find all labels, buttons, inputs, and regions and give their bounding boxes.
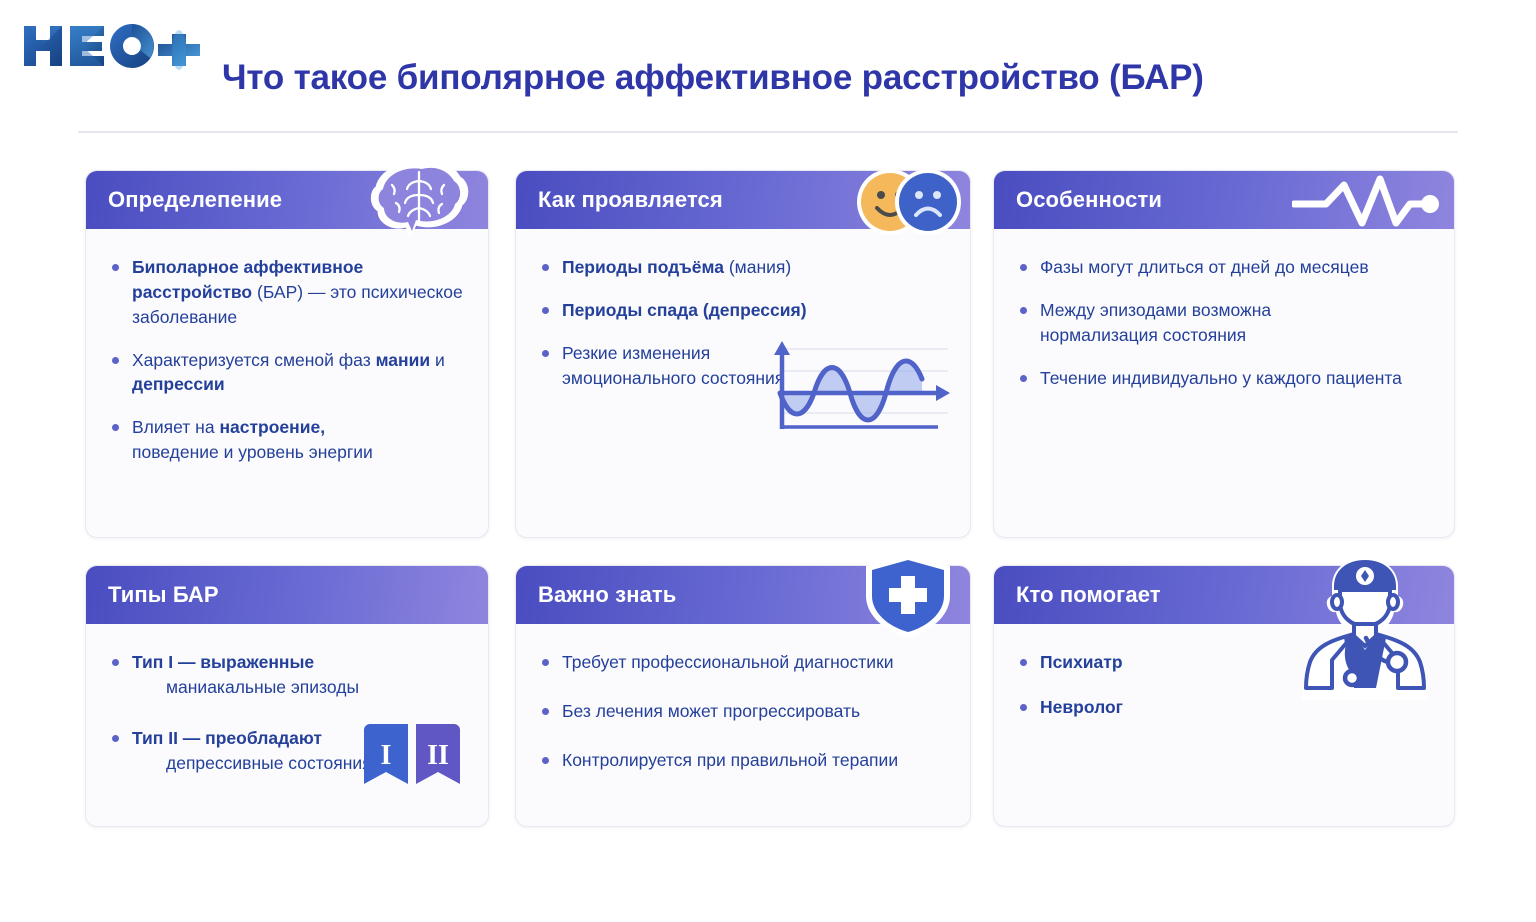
page-header: Что такое биполярное аффективное расстро… [0,0,1536,135]
features-bullet-2: Между эпизодами возможна нормализация со… [1040,300,1271,345]
page-title: Что такое биполярное аффективное расстро… [222,58,1204,98]
who-helps-bullet-2: Невролог [1040,697,1123,717]
definition-bullet-2-lead: мании [376,350,431,370]
card-definition: Определепение [85,170,489,538]
definition-bullet-2-prefix: Характеризуется сменой фаз [132,350,376,370]
symptoms-bullet-3-rest: Резкие изменения эмоционального состояни… [562,343,784,388]
card-definition-title: Определепение [108,187,282,213]
header-divider [78,131,1458,133]
card-who-helps-header: Кто помогает [994,566,1454,624]
card-important-title: Важно знать [538,582,676,608]
brain-icon [364,157,482,241]
svg-text:I: I [381,740,392,771]
types-bullet-1-lead: Тип I — выраженные [132,652,314,672]
who-helps-bullet-1: Психиатр [1040,652,1123,672]
neo-plus-logo [22,20,207,72]
important-bullet-2: Без лечения может прогрессировать [562,701,860,721]
list-item: Влияет на настроение,поведение и уровень… [110,415,464,465]
svg-text:II: II [427,740,449,771]
definition-bullet-3-prefix: Влияет на [132,417,219,437]
card-symptoms-title: Как проявляется [538,187,723,213]
card-features-title: Особенности [1016,187,1162,213]
list-item: Биполарное аффективное расстройство (БАР… [110,255,464,330]
features-bullet-1: Фазы могут длиться от дней до месяцев [1040,257,1369,277]
types-bullet-1-indented: маниакальные эпизоды [132,675,464,700]
card-features-header: Особенности [994,171,1454,229]
card-types-title: Типы БАР [108,582,219,608]
list-item: Периоды спада (депрессия) [540,298,946,323]
card-definition-body: Биполарное аффективное расстройство (БАР… [86,229,488,483]
card-features: Особенности Фазы могут длиться от дней д… [993,170,1455,538]
card-important-header: Важно знать [516,566,970,624]
card-who-helps-title: Кто помогает [1016,582,1161,608]
card-grid: Определепение [0,170,1536,870]
list-item: Психиатр [1018,650,1430,675]
symptoms-bullet-1-lead: Периоды подъёма [562,257,724,277]
definition-bullet-3-lead: настроение, [219,417,325,437]
type-one-two-badge-icon: I II [360,722,470,802]
list-item: Невролог [1018,695,1430,720]
mood-wave-chart-icon [762,335,956,435]
list-item: Требует профессиональной диагностики [540,650,946,675]
card-important-body: Требует профессиональной диагностики Без… [516,624,970,791]
symptoms-bullet-1-rest: (мания) [724,257,791,277]
list-item: Без лечения может прогрессировать [540,699,946,724]
card-important: Важно знать Требует профессиональной диа… [515,565,971,827]
definition-bullet-2-lead2: депрессии [132,374,225,394]
card-symptoms: Как проявляется [515,170,971,538]
who-helps-bullet-list: Психиатр Невролог [1018,650,1430,720]
features-bullet-list: Фазы могут длиться от дней до месяцев Ме… [1018,255,1430,390]
list-item: Тип I — выраженные маниакальные эпизоды [110,650,464,700]
important-bullet-list: Требует профессиональной диагностики Без… [540,650,946,773]
list-item: Характеризуется сменой фаз мании и депре… [110,348,464,398]
definition-bullet-2-mid: и [430,350,445,370]
list-item: Периоды подъёма (мания) [540,255,946,280]
list-item: Контролируется при правильной терапии [540,748,946,773]
definition-bullet-list: Биполарное аффективное расстройство (БАР… [110,255,464,465]
pulse-line-icon [1292,173,1444,231]
list-item: Течение индивидуально у каждого пациента [1018,366,1430,391]
card-types: Типы БАР Тип I — выраженные маниакальные… [85,565,489,827]
symptoms-bullet-2-lead: Периоды спада (депрессия) [562,300,807,320]
list-item: Резкие изменения эмоционального состояни… [540,341,792,391]
card-who-helps-body: Психиатр Невролог [994,624,1454,738]
card-features-body: Фазы могут длиться от дней до месяцев Ме… [994,229,1454,408]
definition-bullet-3-rest: поведение и уровень энергии [132,442,373,462]
important-bullet-1: Требует профессиональной диагностики [562,652,894,672]
list-item: Фазы могут длиться от дней до месяцев [1018,255,1430,280]
card-symptoms-header: Как проявляется [516,171,970,229]
card-who-helps: Кто помогает [993,565,1455,827]
features-bullet-3: Течение индивидуально у каждого пациента [1040,368,1402,388]
card-types-header: Типы БАР [86,566,488,624]
list-item: Между эпизодами возможна нормализация со… [1018,298,1318,348]
important-bullet-3: Контролируется при правильной терапии [562,750,898,770]
types-bullet-2-lead: Тип II — преобладают [132,728,322,748]
card-definition-header: Определепение [86,171,488,229]
